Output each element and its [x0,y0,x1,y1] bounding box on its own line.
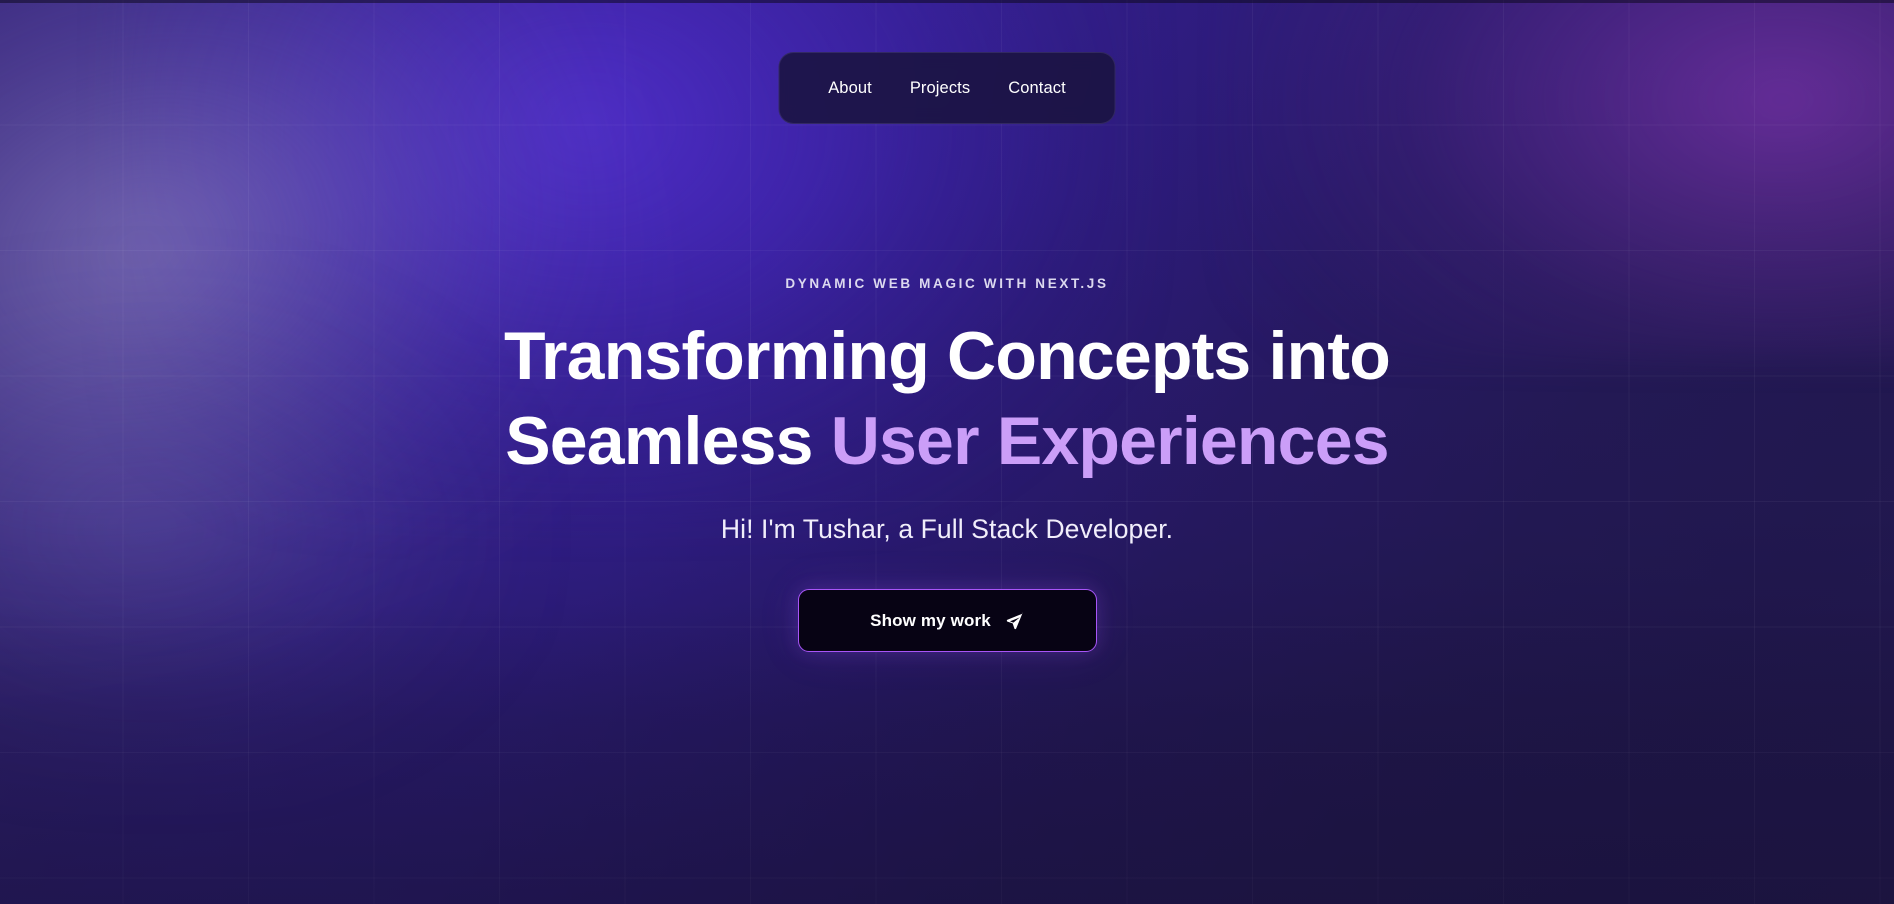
hero-eyebrow: Dynamic Web Magic with Next.js [785,277,1108,291]
nav-link-about[interactable]: About [828,80,872,97]
nav-link-projects[interactable]: Projects [910,80,970,97]
headline-line-2-accent: User Experiences [831,403,1389,479]
cta-label: Show my work [870,611,991,631]
headline-line-1: Transforming Concepts into [504,318,1390,394]
headline-line-2-plain: Seamless [505,403,831,479]
hero-headline: Transforming Concepts into Seamless User… [504,314,1390,485]
nav-link-contact[interactable]: Contact [1008,80,1066,97]
cta-container: Show my work [798,589,1097,652]
floating-navbar: About Projects Contact [779,52,1116,124]
hero-content: Dynamic Web Magic with Next.js Transform… [0,0,1894,904]
show-my-work-button[interactable]: Show my work [798,589,1097,652]
hero-subtitle: Hi! I'm Tushar, a Full Stack Developer. [721,512,1173,546]
hero-section: About Projects Contact Dynamic Web Magic… [0,0,1894,904]
send-icon [1006,612,1024,630]
